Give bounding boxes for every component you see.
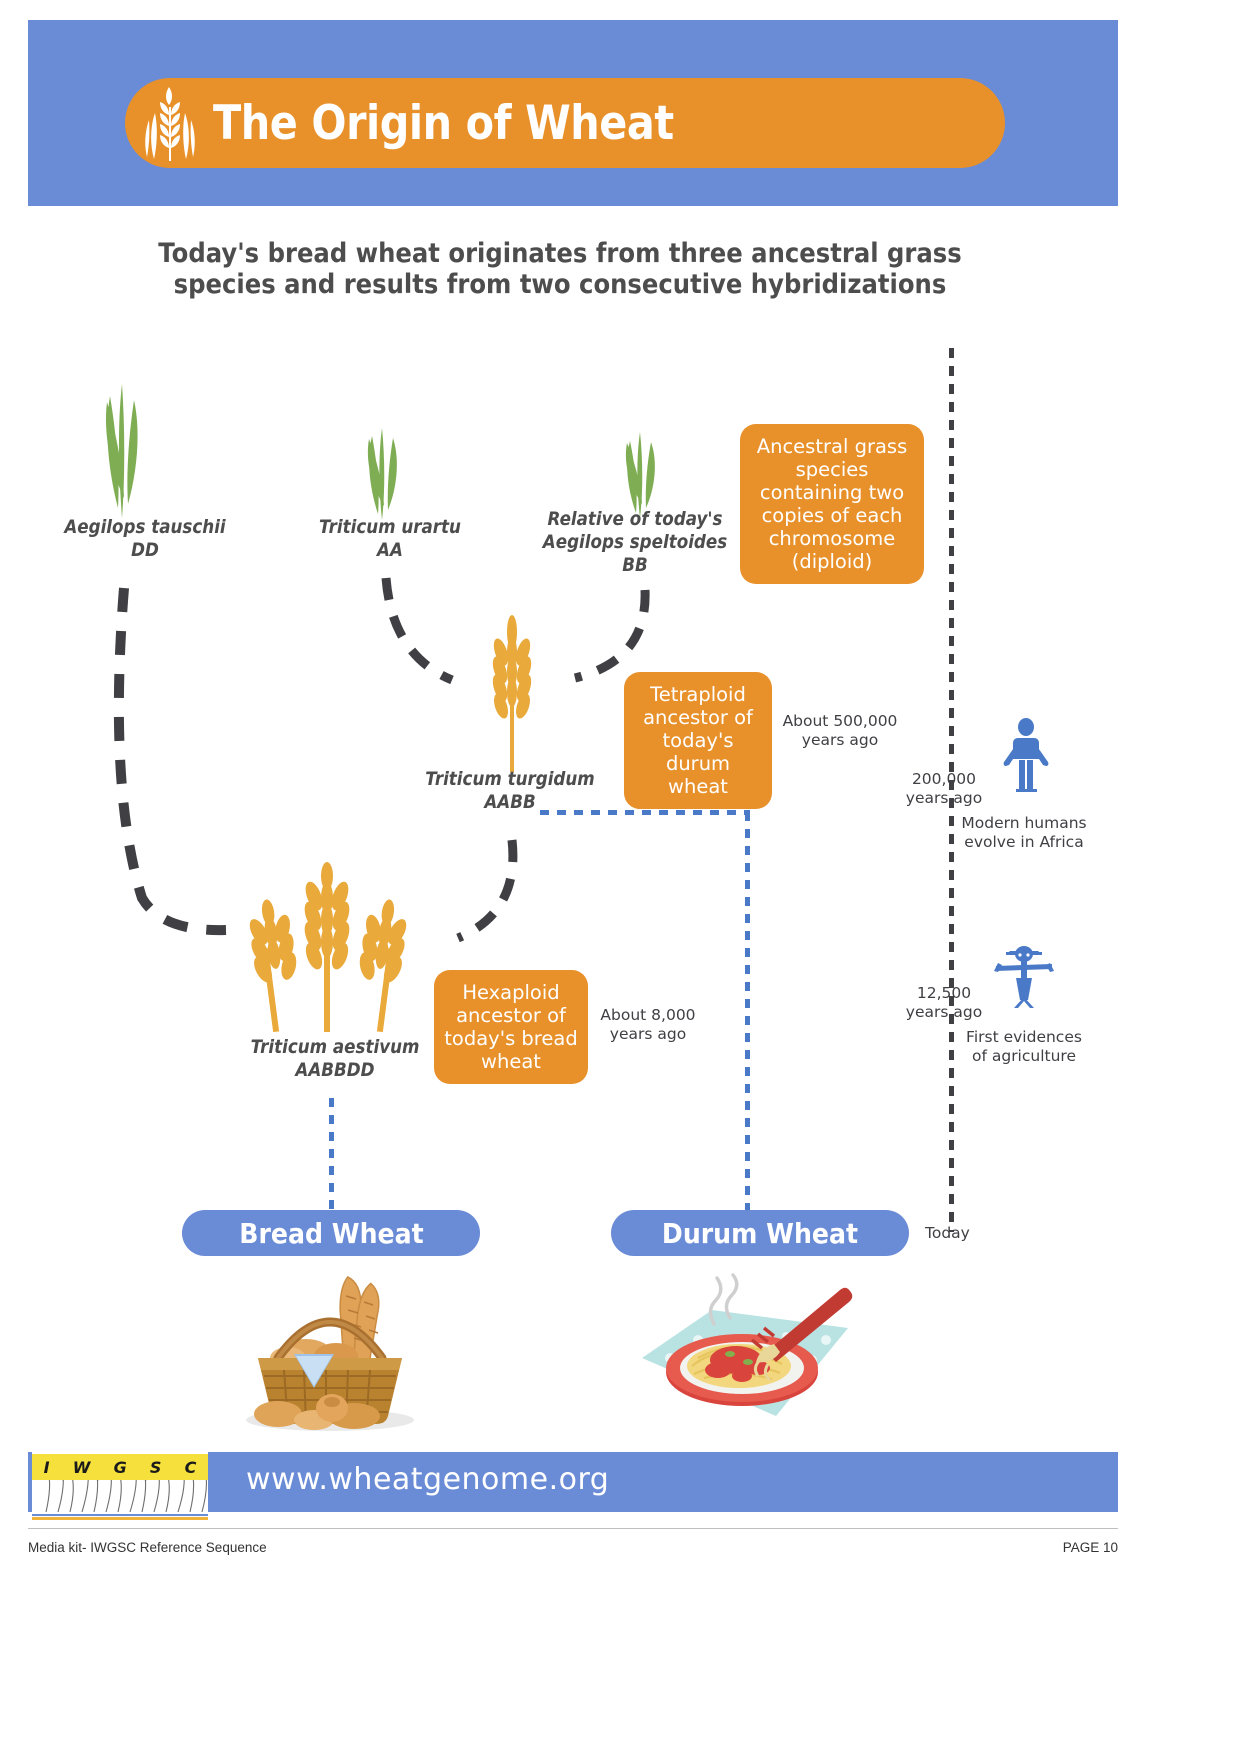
timeline-desc-line1: Modern humans xyxy=(960,814,1088,833)
species-name-line2: Aegilops speltoides xyxy=(534,531,736,554)
age-note-line2: years ago xyxy=(592,1025,704,1044)
species-name: Triticum aestivum xyxy=(229,1036,440,1059)
species-label-aegilops-speltoides: Relative of today's Aegilops speltoides … xyxy=(534,508,736,576)
timeline-stamp-12500: 12,500 years ago xyxy=(898,984,990,1021)
timeline-stamp-200000: 200,000 years ago xyxy=(898,770,990,807)
species-genome: AABBDD xyxy=(229,1059,440,1082)
age-note-durum: About 500,000 years ago xyxy=(775,712,905,750)
timeline-label-today: Today xyxy=(925,1224,995,1243)
connector-durum-horizontal xyxy=(540,810,750,815)
pasta-plate-icon xyxy=(634,1266,854,1437)
species-name: Triticum urartu xyxy=(289,516,491,539)
scarecrow-icon xyxy=(994,942,1054,1013)
page-footer: Media kit- IWGSC Reference Sequence PAGE… xyxy=(28,1528,1118,1555)
timeline-desc-line1: First evidences xyxy=(964,1028,1084,1047)
callout-diploid: Ancestral grass species containing two c… xyxy=(740,424,924,584)
product-label: Durum Wheat xyxy=(662,1217,858,1250)
logo-letter: I xyxy=(44,1458,50,1477)
iwgsc-logo: I W G S C xyxy=(32,1448,208,1520)
species-label-triticum-turgidum: Triticum turgidum AABB xyxy=(409,768,611,814)
timeline-desc-line2: of agriculture xyxy=(964,1047,1084,1066)
age-note-line1: About 8,000 xyxy=(592,1006,704,1025)
human-figure-icon xyxy=(1000,718,1052,797)
logo-letter: S xyxy=(150,1458,162,1477)
timeline-desc-agriculture: First evidences of agriculture xyxy=(964,1028,1084,1066)
logo-letter: G xyxy=(114,1458,127,1477)
connector-bread-vertical xyxy=(329,1098,334,1214)
timeline-stamp-line2: years ago xyxy=(898,789,990,808)
species-genome: DD xyxy=(35,539,255,562)
subtitle: Today's bread wheat originates from thre… xyxy=(110,238,1010,301)
species-name-line1: Relative of today's xyxy=(534,508,736,531)
logo-letter: C xyxy=(185,1458,197,1477)
age-note-line2: years ago xyxy=(775,731,905,750)
website-url[interactable]: www.wheatgenome.org xyxy=(246,1462,609,1497)
species-label-aegilops-tauschii: Aegilops tauschii DD xyxy=(35,516,255,562)
product-pill-bread-wheat[interactable]: Bread Wheat xyxy=(182,1210,480,1256)
logo-letter: W xyxy=(73,1458,91,1477)
timeline-desc-modern-humans: Modern humans evolve in Africa xyxy=(960,814,1088,852)
timeline-stamp-line1: 12,500 xyxy=(898,984,990,1003)
grass-blades-icon xyxy=(88,358,160,523)
species-label-triticum-urartu: Triticum urartu AA xyxy=(289,516,491,562)
callout-hexaploid: Hexaploid ancestor of today's bread whea… xyxy=(434,970,588,1084)
species-genome: BB xyxy=(534,554,736,577)
timeline-stamp-line2: years ago xyxy=(898,1003,990,1022)
timeline-stamp-line1: 200,000 xyxy=(898,770,990,789)
page-number: PAGE 10 xyxy=(1063,1540,1118,1555)
callout-tetraploid: Tetraploid ancestor of today's durum whe… xyxy=(624,672,772,809)
timeline-desc-line2: evolve in Africa xyxy=(960,833,1088,852)
species-name: Triticum turgidum xyxy=(409,768,611,791)
title-banner: The Origin of Wheat xyxy=(125,78,1005,168)
age-note-line1: About 500,000 xyxy=(775,712,905,731)
species-label-triticum-aestivum: Triticum aestivum AABBDD xyxy=(229,1036,440,1082)
wheat-spike-single-icon xyxy=(478,612,546,777)
connector-durum-vertical xyxy=(745,812,750,1212)
page-title: The Origin of Wheat xyxy=(213,96,674,151)
bread-basket-icon xyxy=(232,1262,428,1437)
media-kit-label: Media kit- IWGSC Reference Sequence xyxy=(28,1540,267,1555)
product-pill-durum-wheat[interactable]: Durum Wheat xyxy=(611,1210,909,1256)
product-label: Bread Wheat xyxy=(239,1217,423,1250)
species-genome: AA xyxy=(289,539,491,562)
wheat-spike-icon xyxy=(125,85,213,161)
wheat-spike-triple-icon xyxy=(228,862,428,1037)
grass-blades-icon xyxy=(350,412,420,525)
species-name: Aegilops tauschii xyxy=(35,516,255,539)
age-note-bread: About 8,000 years ago xyxy=(592,1006,704,1044)
iwgsc-logo-letters: I W G S C xyxy=(32,1454,208,1480)
